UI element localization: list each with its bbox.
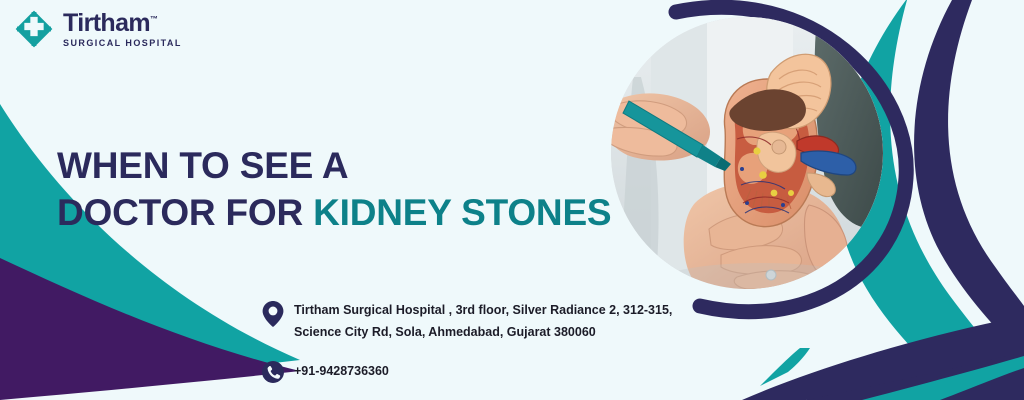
phone-row[interactable]: +91-9428736360	[262, 360, 682, 384]
phone-number[interactable]: +91-9428736360	[294, 360, 389, 381]
brand-logo-text: Tirtham™ SURGICAL HOSPITAL	[63, 11, 182, 48]
address-text: Tirtham Surgical Hospital , 3rd floor, S…	[294, 300, 672, 343]
headline-line-2-plain: DOCTOR FOR	[57, 192, 313, 233]
bottom-teal-sliver-2	[760, 348, 810, 386]
brand-name-text: Tirtham	[63, 9, 150, 37]
bottom-navy-band	[806, 318, 1024, 400]
left-purple-curve	[0, 258, 300, 400]
headline-line-1: WHEN TO SEE A	[57, 145, 348, 186]
hero-photo	[611, 17, 883, 289]
address-line-1: Tirtham Surgical Hospital , 3rd floor, S…	[294, 303, 672, 317]
right-navy-ribbon	[914, 0, 1024, 356]
location-pin-icon	[262, 301, 284, 327]
brand-logo[interactable]: Tirtham™ SURGICAL HOSPITAL	[14, 9, 182, 49]
phone-icon	[262, 360, 284, 384]
address-line-2: Science City Rd, Sola, Ahmedabad, Gujara…	[294, 325, 596, 339]
diamond-cross-icon	[14, 9, 54, 49]
brand-name: Tirtham™	[63, 11, 182, 36]
headline-line-2-accent: KIDNEY STONES	[313, 192, 611, 233]
kidney-model-photo	[611, 17, 883, 289]
brand-tagline: SURGICAL HOSPITAL	[63, 39, 182, 48]
bottom-teal-sliver	[862, 356, 1024, 400]
trademark-symbol: ™	[150, 14, 158, 23]
contact-block: Tirtham Surgical Hospital , 3rd floor, S…	[262, 300, 682, 384]
bottom-navy-band-2	[742, 316, 1024, 400]
marketing-banner: Tirtham™ SURGICAL HOSPITAL WHEN TO SEE A…	[0, 0, 1024, 400]
address-row: Tirtham Surgical Hospital , 3rd floor, S…	[262, 300, 682, 343]
page-title: WHEN TO SEE A DOCTOR FOR KIDNEY STONES	[57, 143, 611, 237]
right-teal-ribbon-inner	[945, 0, 1024, 400]
